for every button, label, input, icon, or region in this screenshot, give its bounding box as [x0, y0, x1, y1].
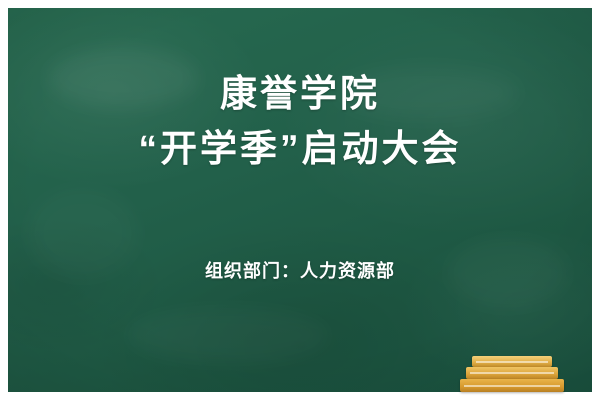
slide-title-line-1: 康誉学院	[139, 70, 462, 117]
slide-content: 康誉学院 “开学季”启动大会 组织部门：人力资源部	[8, 8, 592, 392]
book-pages	[470, 372, 554, 374]
slide-title-block: 康誉学院 “开学季”启动大会	[139, 70, 462, 173]
slide-subtitle: 组织部门：人力资源部	[205, 257, 395, 283]
book-pages	[464, 385, 560, 387]
stacked-books-icon	[454, 346, 574, 392]
presentation-slide: 康誉学院 “开学季”启动大会 组织部门：人力资源部	[0, 0, 600, 400]
book-pages	[476, 361, 548, 363]
chalkboard-frame: 康誉学院 “开学季”启动大会 组织部门：人力资源部	[8, 8, 592, 392]
slide-title-line-2: “开学季”启动大会	[139, 125, 462, 172]
